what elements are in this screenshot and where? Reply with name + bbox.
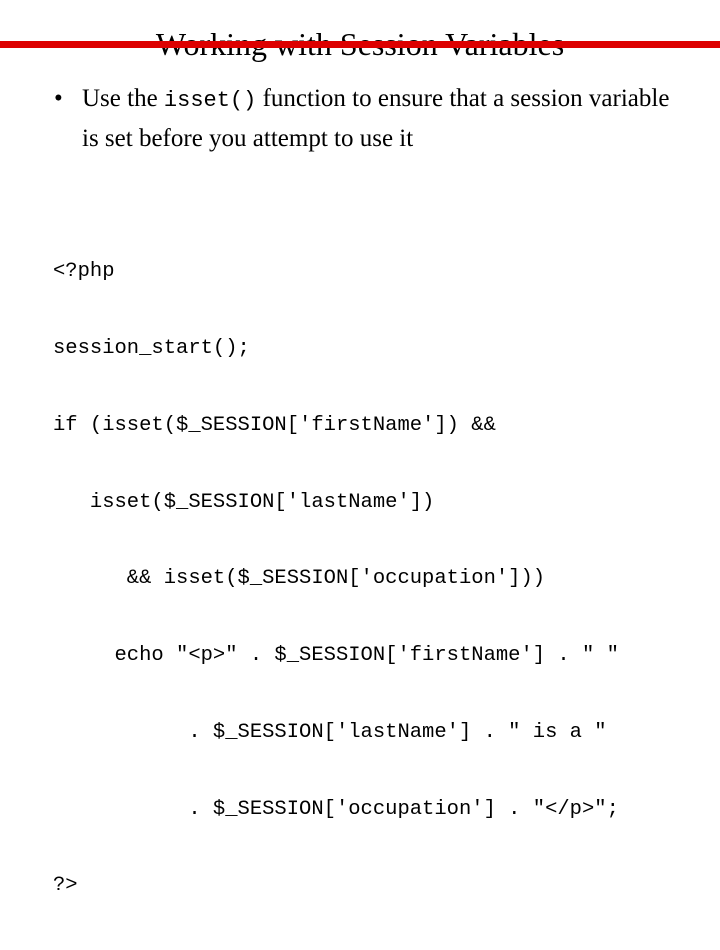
code-line: . $_SESSION['occupation'] . "</p>"; (53, 797, 693, 823)
slide-root: Working with Session Variables • Use the… (0, 0, 720, 540)
code-line: ?> (53, 873, 693, 899)
list-item: • Use the isset() function to ensure tha… (46, 80, 686, 158)
bullet-list: • Use the isset() function to ensure tha… (46, 80, 686, 158)
code-line: session_start(); (53, 336, 693, 362)
code-line: <?php (53, 259, 693, 285)
code-block: <?php session_start(); if (isset($_SESSI… (53, 208, 693, 950)
code-line: && isset($_SESSION['occupation'])) (53, 566, 693, 592)
bullet-marker-icon: • (54, 80, 63, 118)
title-divider-rule (0, 41, 720, 48)
code-line: . $_SESSION['lastName'] . " is a " (53, 720, 693, 746)
bullet-inline-code: isset() (164, 88, 256, 113)
code-line: isset($_SESSION['lastName']) (53, 490, 693, 516)
code-line: echo "<p>" . $_SESSION['firstName'] . " … (53, 643, 693, 669)
bullet-text-part-1: Use the (82, 85, 164, 112)
code-line: if (isset($_SESSION['firstName']) && (53, 413, 693, 439)
